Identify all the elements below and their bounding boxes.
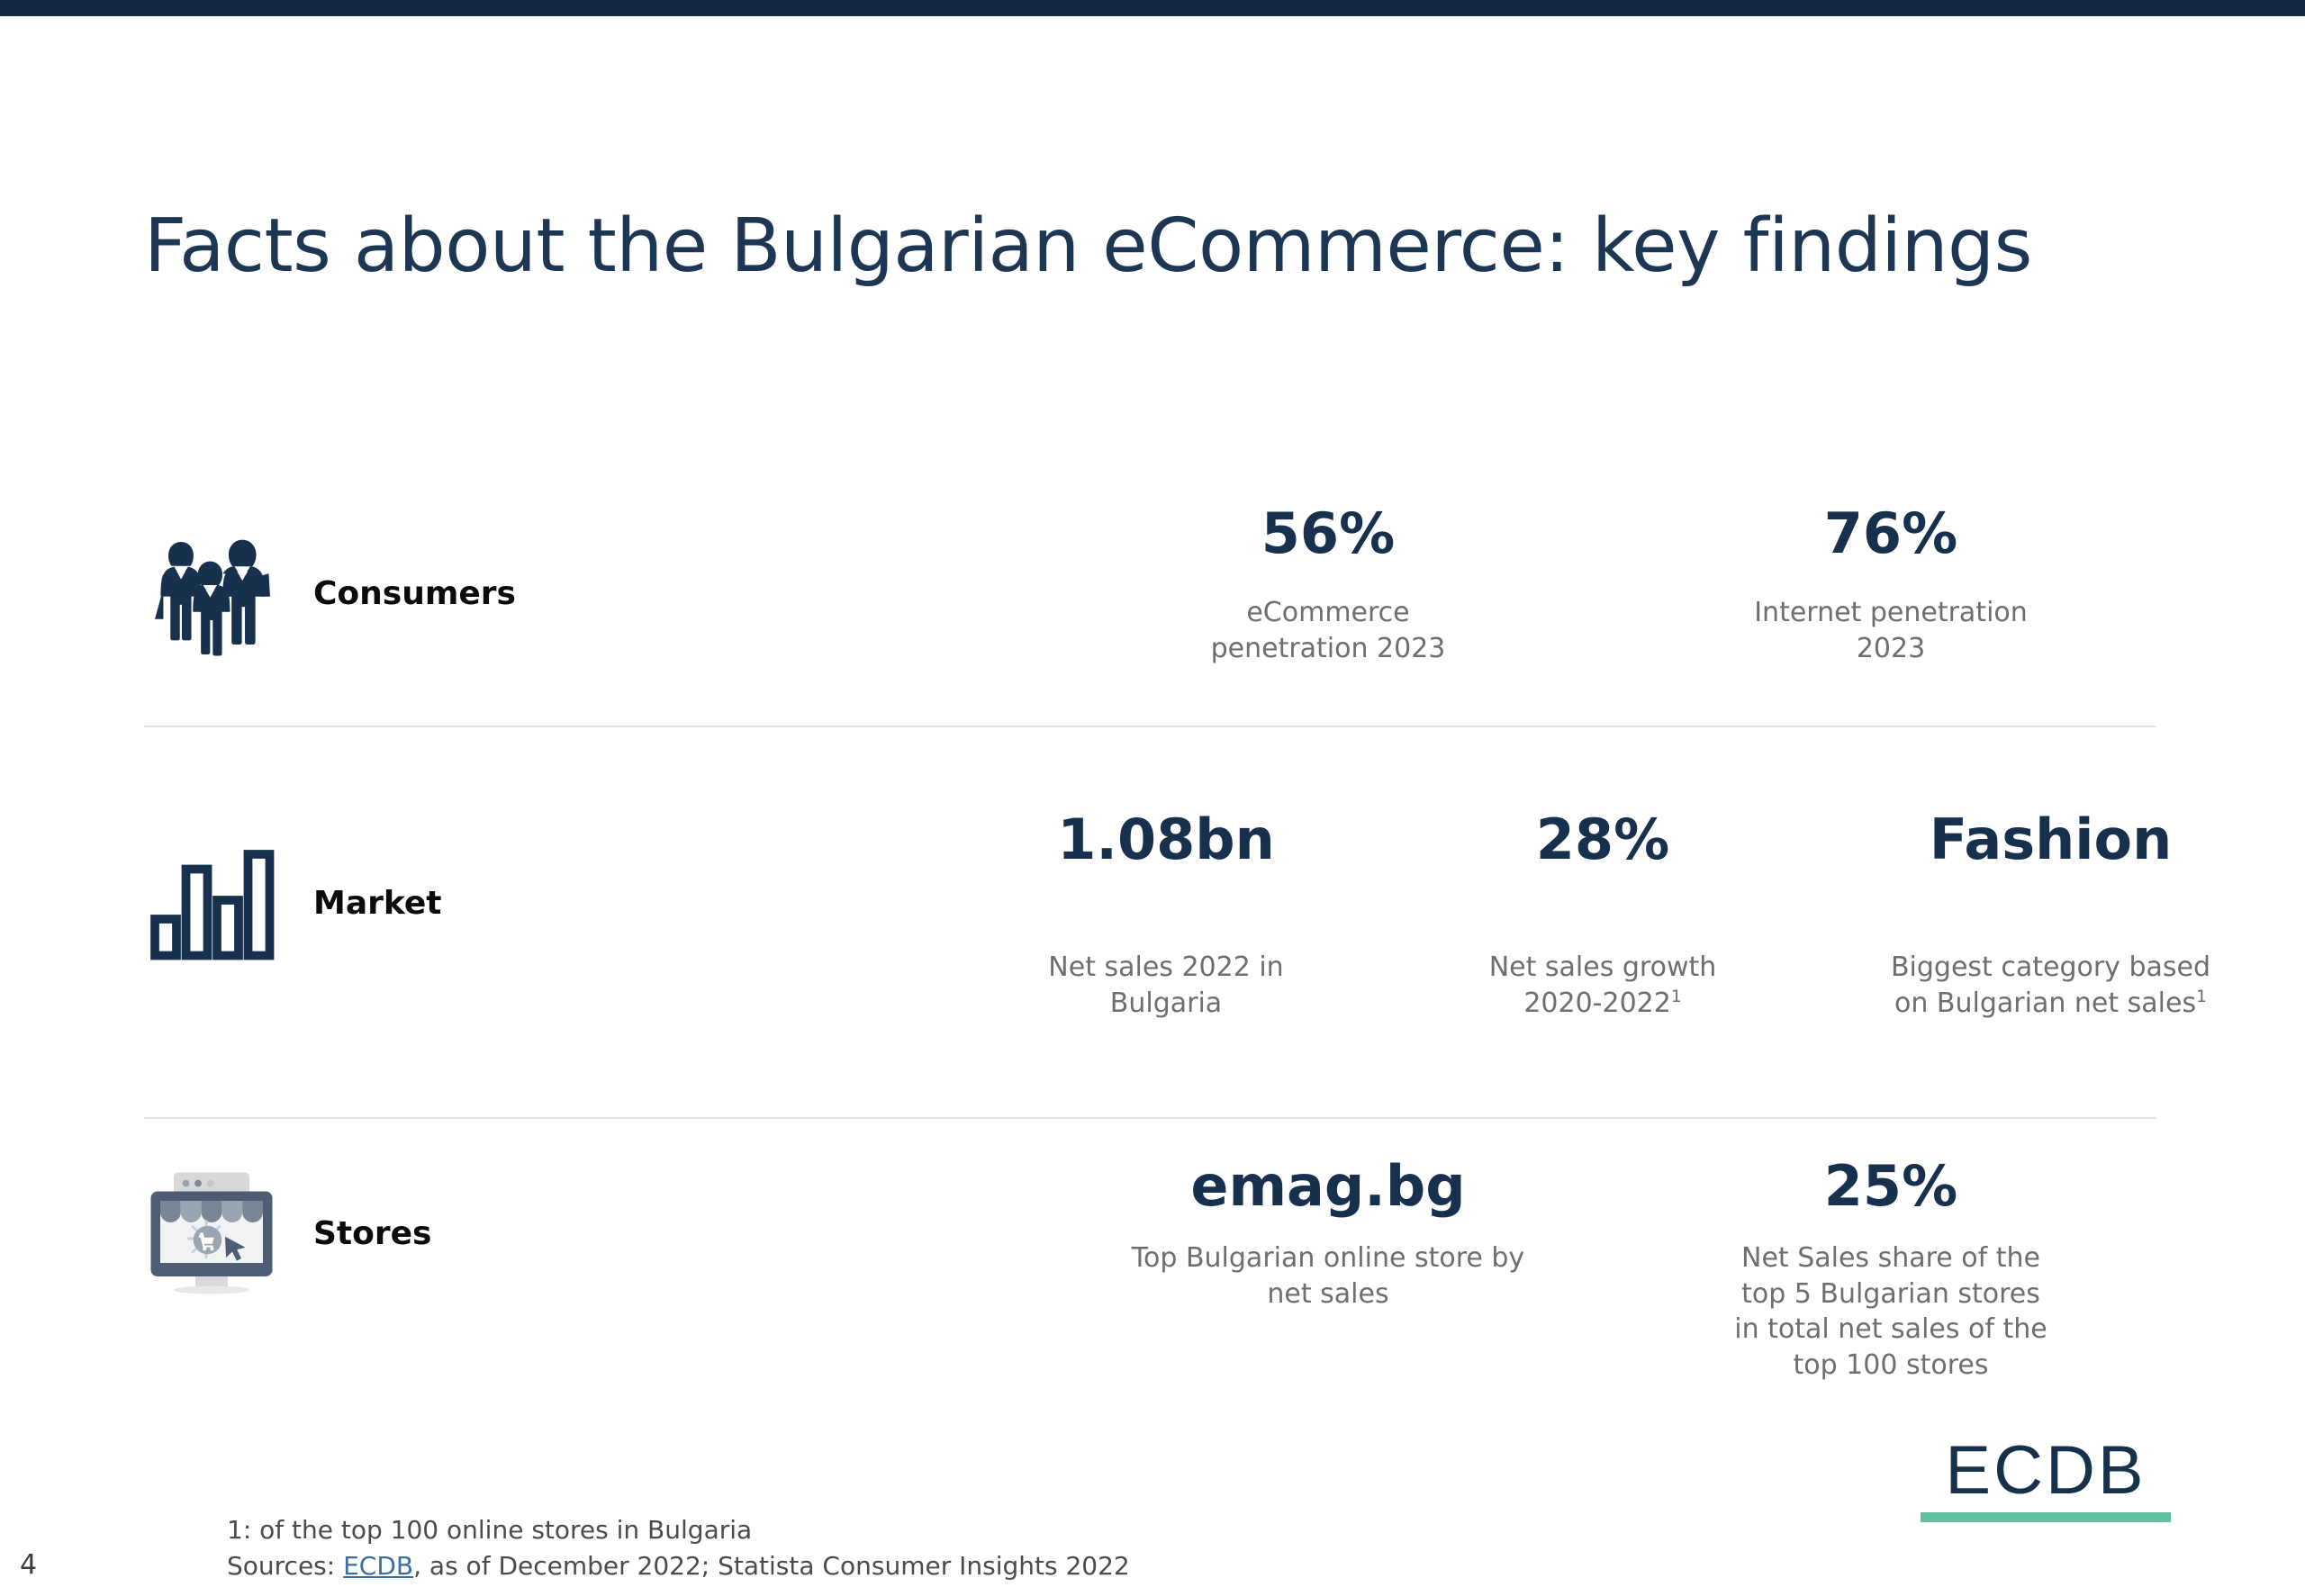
stat-biggest-category: Fashion Biggest category basedon Bulgari… [1769,810,2305,1021]
ecdb-logo-underline [1921,1512,2171,1522]
online-store-monitor-icon [144,1166,279,1301]
stat-value: 76% [1607,504,2174,563]
stat-caption: Internet penetration2023 [1607,595,2174,666]
footnote-marker: 1 [1671,987,1682,1006]
stat-value: Fashion [1769,810,2305,869]
page-number: 4 [20,1549,37,1581]
category-consumers: Consumers [144,526,516,661]
category-label: Market [313,885,441,922]
stat-value: 56% [1044,504,1612,563]
category-label: Consumers [313,575,516,612]
stat-value: 25% [1607,1157,2174,1215]
ecdb-source-link[interactable]: ECDB [343,1551,413,1581]
people-group-icon [144,526,279,661]
section-consumers: Consumers 56% eCommercepenetration 2023 … [144,504,2156,720]
stat-value: emag.bg [1044,1157,1612,1215]
sources-prefix: Sources: [227,1551,343,1581]
ecdb-logo: ECDB [1921,1438,2171,1522]
stat-ecommerce-penetration: 56% eCommercepenetration 2023 [1044,504,1612,666]
category-market: Market [144,835,441,970]
page-title: Facts about the Bulgarian eCommerce: key… [144,210,2179,284]
category-stores: Stores [144,1166,431,1301]
stat-caption: eCommercepenetration 2023 [1044,595,1612,666]
footnote-marker: 1 [2196,987,2207,1006]
section-divider [144,726,2156,727]
ecdb-logo-text: ECDB [1921,1438,2171,1503]
bar-chart-icon [144,835,279,970]
section-market: Market 1.08bn Net sales 2022 inBulgaria … [144,810,2156,1107]
stat-internet-penetration: 76% Internet penetration2023 [1607,504,2174,666]
sources-line: Sources: ECDB, as of December 2022; Stat… [227,1548,1130,1584]
stat-top5-share: 25% Net Sales share of thetop 5 Bulgaria… [1607,1157,2174,1383]
stat-top-store: emag.bg Top Bulgarian online store bynet… [1044,1157,1612,1312]
top-accent-bar [0,0,2305,16]
stat-caption: Biggest category basedon Bulgarian net s… [1769,950,2305,1021]
sources-suffix: , as of December 2022; Statista Consumer… [413,1551,1130,1581]
stat-caption: Net Sales share of thetop 5 Bulgarian st… [1607,1240,2174,1383]
section-divider [144,1117,2156,1119]
footnote-1: 1: of the top 100 online stores in Bulga… [227,1512,1130,1548]
category-label: Stores [313,1215,431,1252]
stat-caption: Top Bulgarian online store bynet sales [1044,1240,1612,1312]
footnotes: 1: of the top 100 online stores in Bulga… [227,1512,1130,1584]
section-stores: Stores emag.bg Top Bulgarian online stor… [144,1157,2156,1454]
